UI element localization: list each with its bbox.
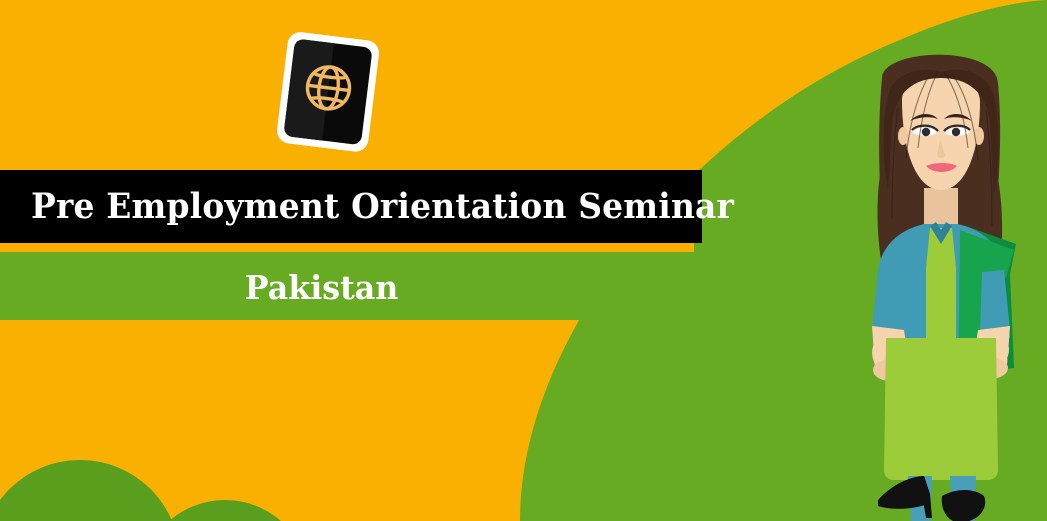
- subtitle-country: Pakistan: [0, 271, 398, 304]
- pupil-right: [952, 128, 960, 136]
- subtitle-container: Pakistan: [0, 256, 700, 318]
- pupil-left: [922, 128, 930, 136]
- passport-icon: [272, 30, 387, 155]
- title-banner: Pre Employment Orientation Seminar: [0, 170, 702, 243]
- seminar-banner: Pre Employment Orientation Seminar Pakis…: [0, 0, 1047, 521]
- sleeve-left: [872, 270, 902, 334]
- banner-underline-strip: [0, 243, 694, 252]
- kameez-tunic: [884, 338, 998, 480]
- page-title: Pre Employment Orientation Seminar: [0, 189, 734, 224]
- woman-illustration: [838, 38, 1043, 521]
- shoe-right: [942, 490, 985, 521]
- ear-left: [898, 127, 908, 145]
